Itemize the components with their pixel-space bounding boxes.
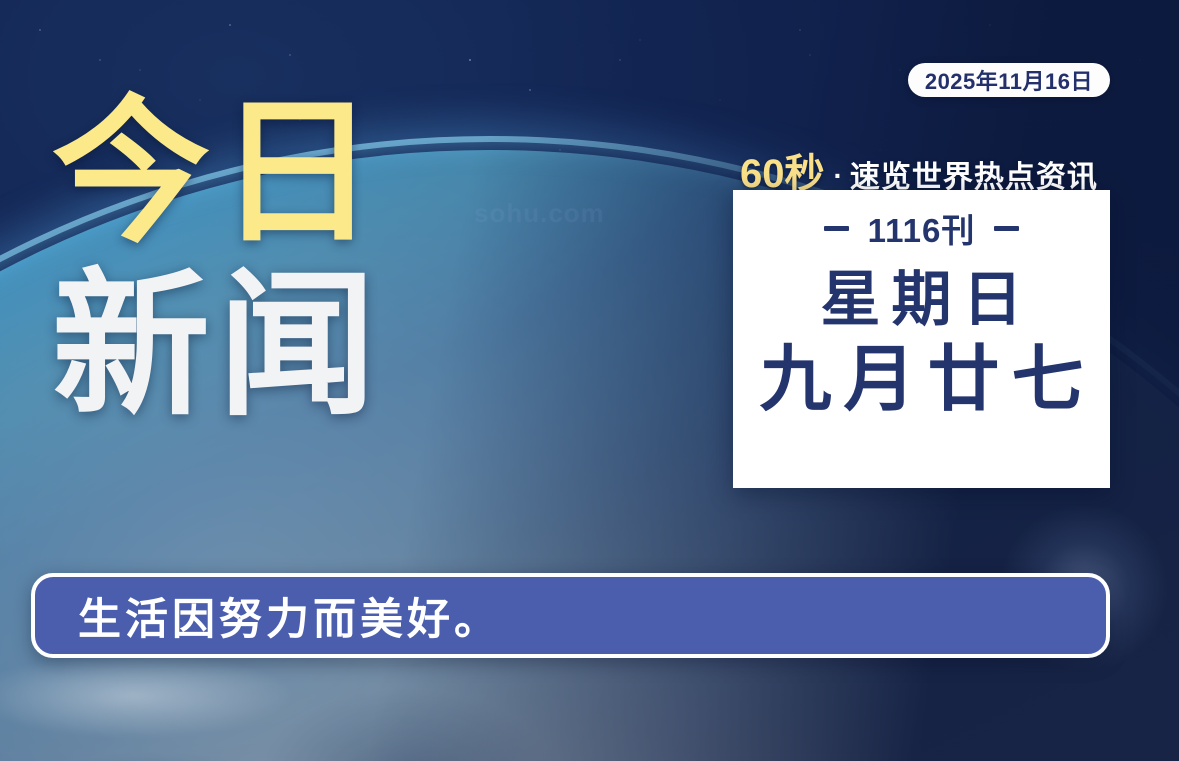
slogan-bar: 生活因努力而美好。	[31, 573, 1110, 658]
tagline-separator-icon: ·	[834, 160, 843, 192]
masthead: 今日 新闻	[52, 96, 472, 424]
issue-number: 1116刊	[868, 204, 976, 252]
weekday-label: 星期日	[810, 268, 1034, 331]
slogan-text: 生活因努力而美好。	[78, 585, 501, 647]
masthead-line-news: 新闻	[52, 269, 472, 424]
date-badge: 2025年11月16日	[908, 63, 1110, 97]
issue-row: 1116刊	[824, 204, 1020, 252]
issue-info-card: 1116刊 星期日 九月廿七	[733, 190, 1110, 488]
news-poster: sohu.com 今日 新闻 2025年11月16日 60秒 · 速览世界热点资…	[0, 0, 1179, 761]
dash-right-icon	[994, 226, 1019, 231]
lunar-date-label: 九月廿七	[747, 343, 1095, 419]
masthead-line-today: 今日	[52, 96, 472, 251]
date-badge-label: 2025年11月16日	[925, 64, 1093, 96]
dash-left-icon	[824, 226, 849, 231]
